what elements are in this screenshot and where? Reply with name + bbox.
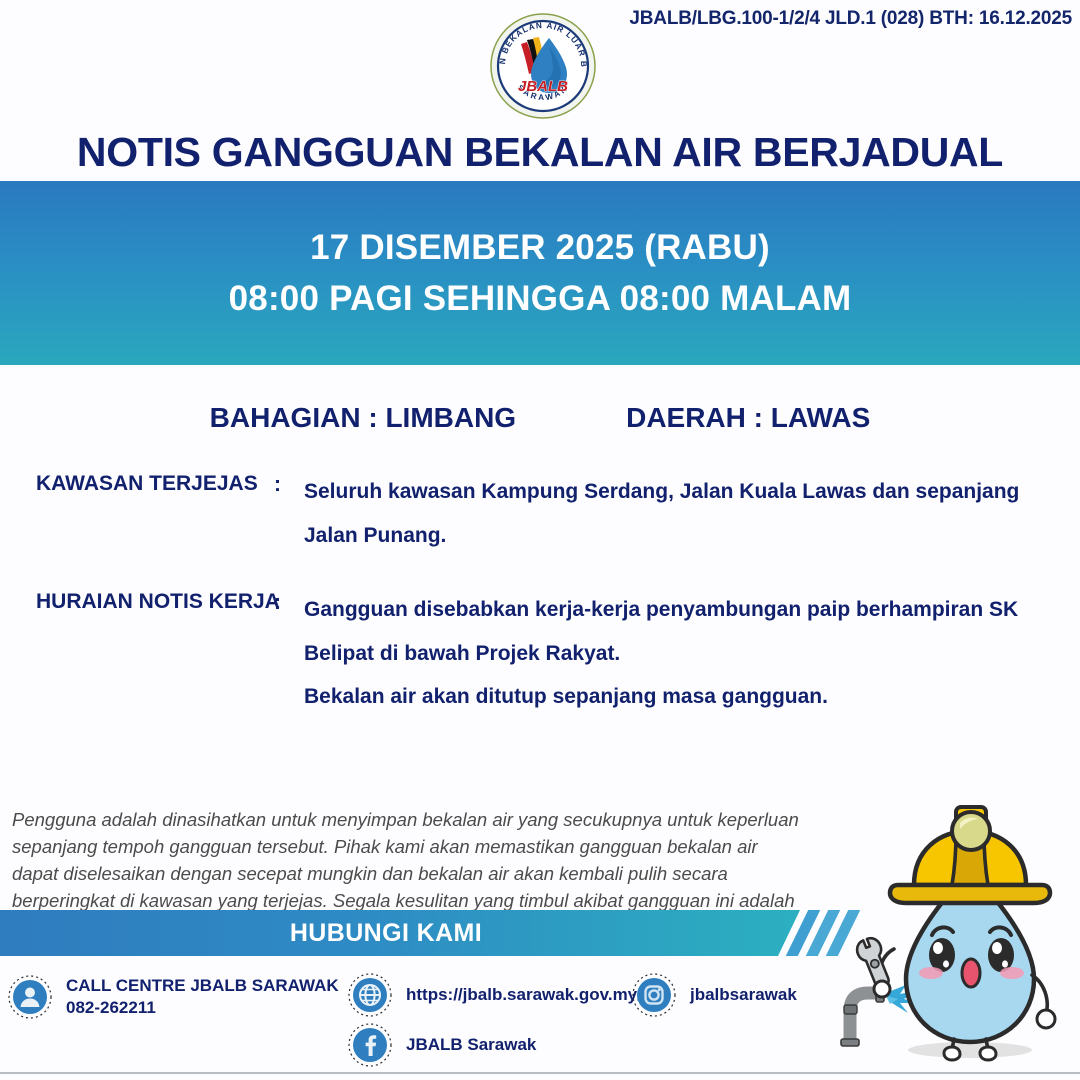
work-description-block: HURAIAN NOTIS KERJA : Gangguan disebabka… [36,588,1048,719]
work-description-line-1: Gangguan disebabkan kerja-kerja penyambu… [304,588,1048,632]
instagram-icon [632,973,676,1017]
division-label: BAHAGIAN : LIMBANG [210,402,516,434]
contact-us-title: HUBUNGI KAMI [290,919,482,948]
contact-list: CALL CENTRE JBALB SARAWAK 082-262211 htt… [0,965,830,1080]
work-description-line-3: Bekalan air akan ditutup sepanjang masa … [304,675,1048,719]
notice-page: JBALB/LBG.100-1/2/4 JLD.1 (028) BTH: 16.… [0,0,1080,1080]
website-label: https://jbalb.sarawak.gov.my/ [406,984,642,1006]
region-row: BAHAGIAN : LIMBANG DAERAH : LAWAS [0,402,1080,434]
svg-text:JBALB: JBALB [518,78,568,95]
person-icon [8,975,52,1019]
date-time-banner: 17 DISEMBER 2025 (RABU) 08:00 PAGI SEHIN… [0,181,1080,365]
work-description-label: HURAIAN NOTIS KERJA [36,588,274,612]
affected-area-label: KAWASAN TERJEJAS [36,470,274,494]
facebook-label: JBALB Sarawak [406,1034,536,1056]
call-centre-line-2: 082-262211 [66,997,339,1019]
reference-number: JBALB/LBG.100-1/2/4 JLD.1 (028) BTH: 16.… [629,8,1072,30]
work-description-body: Gangguan disebabkan kerja-kerja penyambu… [304,588,1048,719]
affected-area-colon: : [274,470,304,497]
contact-facebook[interactable]: JBALB Sarawak [348,1023,536,1067]
globe-icon [348,973,392,1017]
bottom-divider [0,1072,1080,1074]
page-title: NOTIS GANGGUAN BEKALAN AIR BERJADUAL [0,129,1080,176]
contact-call-centre[interactable]: CALL CENTRE JBALB SARAWAK 082-262211 [8,975,339,1020]
work-description-colon: : [274,588,304,615]
call-centre-line-1: CALL CENTRE JBALB SARAWAK [66,976,339,995]
notice-date: 17 DISEMBER 2025 (RABU) [310,228,770,268]
affected-area-line-2: Jalan Punang. [304,514,1048,558]
affected-area-line-1: Seluruh kawasan Kampung Serdang, Jalan K… [304,470,1048,514]
affected-area-body: Seluruh kawasan Kampung Serdang, Jalan K… [304,470,1048,557]
jbalb-logo: JABATAN BEKALAN AIR LUAR BANDAR SARAWAK … [489,12,597,120]
notice-time: 08:00 PAGI SEHINGGA 08:00 MALAM [229,279,852,319]
work-description-line-2: Belipat di bawah Projek Rakyat. [304,632,1048,676]
contact-us-bar: HUBUNGI KAMI [0,910,800,956]
call-centre-text: CALL CENTRE JBALB SARAWAK 082-262211 [66,975,339,1020]
contact-website[interactable]: https://jbalb.sarawak.gov.my/ [348,973,642,1017]
water-droplet-mascot [820,793,1078,1075]
facebook-icon [348,1023,392,1067]
district-label: DAERAH : LAWAS [626,402,870,434]
contact-instagram[interactable]: jbalbsarawak [632,973,797,1017]
affected-area-block: KAWASAN TERJEJAS : Seluruh kawasan Kampu… [36,470,1048,557]
instagram-label: jbalbsarawak [690,984,797,1006]
